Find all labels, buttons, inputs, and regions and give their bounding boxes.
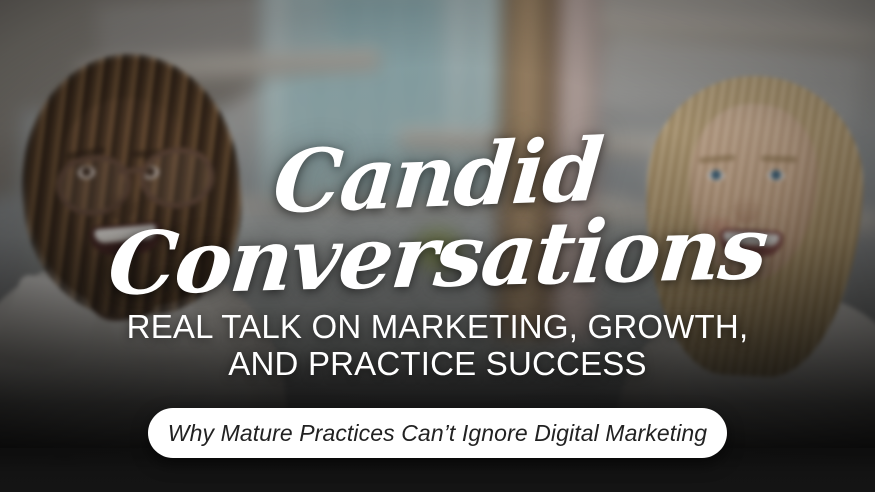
title-content: Candid Conversations REAL TALK ON MARKET… [0, 0, 875, 492]
episode-title-pill: Why Mature Practices Can’t Ignore Digita… [148, 408, 727, 458]
show-tagline: REAL TALK ON MARKETING, GROWTH, AND PRAC… [0, 309, 875, 383]
tagline-line-1: REAL TALK ON MARKETING, GROWTH, [0, 309, 875, 346]
show-title: Candid Conversations [0, 138, 875, 297]
video-thumbnail: Candid Conversations REAL TALK ON MARKET… [0, 0, 875, 492]
show-title-line-2: Conversations [0, 207, 875, 308]
tagline-line-2: AND PRACTICE SUCCESS [0, 346, 875, 383]
episode-title-text: Why Mature Practices Can’t Ignore Digita… [168, 420, 707, 447]
